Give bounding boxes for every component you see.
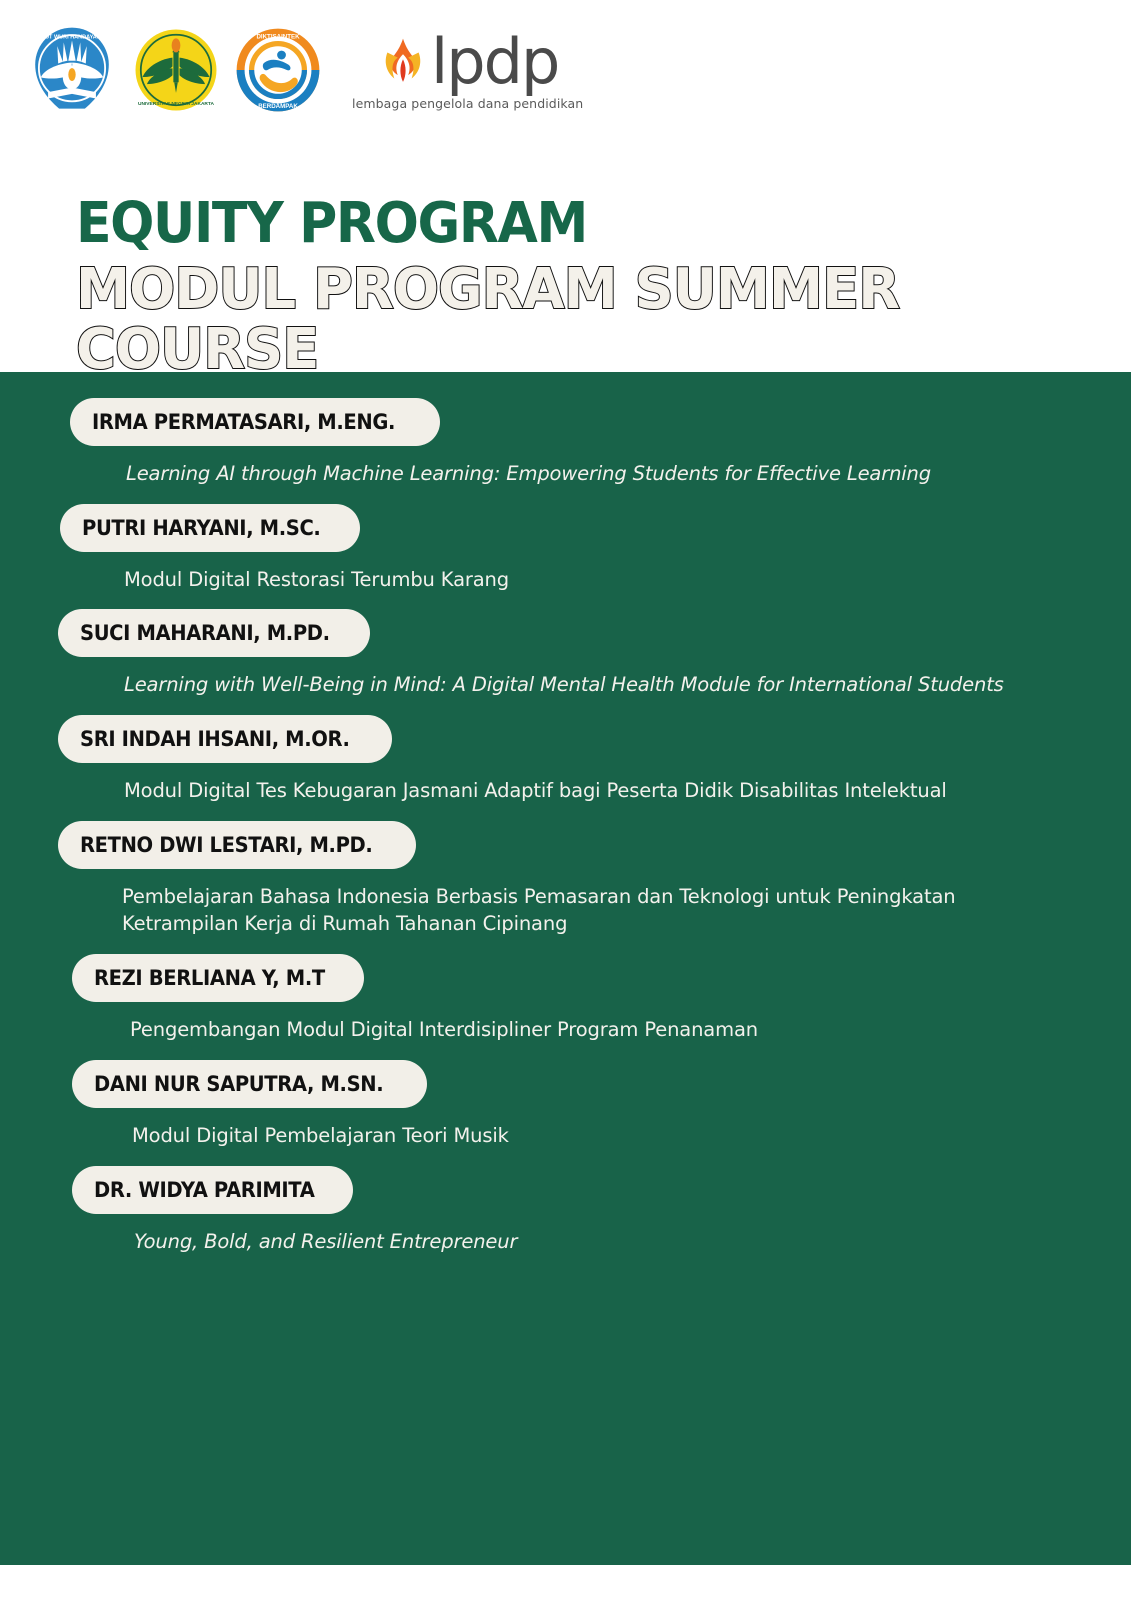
svg-text:UNIVERSITAS NEGERI JAKARTA: UNIVERSITAS NEGERI JAKARTA xyxy=(138,101,215,107)
diktisaintek-berdampak-logo: DIKTISAINTEK BERDAMPAK xyxy=(234,22,322,118)
speaker-name-pill[interactable]: DANI NUR SAPUTRA, M.SN. xyxy=(72,1060,427,1108)
speaker-list-panel: IRMA PERMATASARI, M.ENG.Learning AI thro… xyxy=(0,372,1131,1565)
speaker-entry: DANI NUR SAPUTRA, M.SN.Modul Digital Pem… xyxy=(0,1060,1131,1150)
speaker-name-pill[interactable]: REZI BERLIANA Y, M.T xyxy=(72,954,364,1002)
svg-text:BERDAMPAK: BERDAMPAK xyxy=(258,103,298,110)
universitas-negeri-jakarta-logo: UNIVERSITAS NEGERI JAKARTA xyxy=(132,22,220,118)
speaker-name-pill[interactable]: PUTRI HARYANI, M.SC. xyxy=(60,504,360,552)
speaker-entry: DR. WIDYA PARIMITAYoung, Bold, and Resil… xyxy=(0,1166,1131,1256)
module-title: Learning with Well-Being in Mind: A Digi… xyxy=(124,671,1044,699)
speaker-name: SRI INDAH IHSANI, M.OR. xyxy=(80,715,350,763)
speaker-entry: REZI BERLIANA Y, M.TPengembangan Modul D… xyxy=(0,954,1131,1044)
lpdp-wordmark: lpdp xyxy=(431,34,558,90)
page-subtitle: MODUL PROGRAM SUMMER COURSE xyxy=(76,260,1046,381)
module-title: Modul Digital Restorasi Terumbu Karang xyxy=(124,566,1044,594)
speaker-name: IRMA PERMATASARI, M.ENG. xyxy=(92,398,395,446)
svg-text:DIKTISAINTEK: DIKTISAINTEK xyxy=(256,33,300,40)
speaker-entry: SUCI MAHARANI, M.PD.Learning with Well-B… xyxy=(0,609,1131,699)
module-title: Pembelajaran Bahasa Indonesia Berbasis P… xyxy=(122,883,1042,938)
speaker-name-pill[interactable]: IRMA PERMATASARI, M.ENG. xyxy=(70,398,440,446)
speaker-entry: PUTRI HARYANI, M.SC.Modul Digital Restor… xyxy=(0,504,1131,594)
speaker-name-pill[interactable]: RETNO DWI LESTARI, M.PD. xyxy=(58,821,416,869)
speaker-name-pill[interactable]: SUCI MAHARANI, M.PD. xyxy=(58,609,370,657)
speaker-name-pill[interactable]: DR. WIDYA PARIMITA xyxy=(72,1166,353,1214)
speaker-name: RETNO DWI LESTARI, M.PD. xyxy=(80,821,372,869)
poster-root: TUT WURI HANDAYANI UNIVERSITAS NEGERI JA… xyxy=(0,0,1131,1600)
title-block: EQUITY PROGRAM MODUL PROGRAM SUMMER COUR… xyxy=(76,196,1076,381)
logo-bar: TUT WURI HANDAYANI UNIVERSITAS NEGERI JA… xyxy=(26,18,583,122)
speaker-list: IRMA PERMATASARI, M.ENG.Learning AI thro… xyxy=(0,372,1131,1271)
module-title: Pengembangan Modul Digital Interdisiplin… xyxy=(130,1016,1050,1044)
module-title: Modul Digital Tes Kebugaran Jasmani Adap… xyxy=(124,777,1044,805)
speaker-name: REZI BERLIANA Y, M.T xyxy=(94,954,325,1002)
module-title: Modul Digital Pembelajaran Teori Musik xyxy=(132,1122,1052,1150)
tut-wuri-handayani-logo: TUT WURI HANDAYANI xyxy=(26,22,118,118)
speaker-name: SUCI MAHARANI, M.PD. xyxy=(80,609,330,657)
speaker-name: DR. WIDYA PARIMITA xyxy=(94,1166,314,1214)
speaker-entry: SRI INDAH IHSANI, M.OR.Modul Digital Tes… xyxy=(0,715,1131,805)
lpdp-tagline: lembaga pengelola dana pendidikan xyxy=(352,96,583,111)
speaker-entry: IRMA PERMATASARI, M.ENG.Learning AI thro… xyxy=(0,398,1131,488)
page-title: EQUITY PROGRAM xyxy=(76,196,1006,252)
speaker-name: DANI NUR SAPUTRA, M.SN. xyxy=(94,1060,383,1108)
speaker-name: PUTRI HARYANI, M.SC. xyxy=(82,504,320,552)
module-title: Young, Bold, and Resilient Entrepreneur xyxy=(134,1228,1054,1256)
lpdp-logo: lpdp lembaga pengelola dana pendidikan xyxy=(352,33,583,111)
svg-text:TUT WURI HANDAYANI: TUT WURI HANDAYANI xyxy=(42,35,103,41)
speaker-entry: RETNO DWI LESTARI, M.PD.Pembelajaran Bah… xyxy=(0,821,1131,938)
lpdp-flame-icon xyxy=(377,33,429,91)
speaker-name-pill[interactable]: SRI INDAH IHSANI, M.OR. xyxy=(58,715,392,763)
module-title: Learning AI through Machine Learning: Em… xyxy=(126,460,1046,488)
